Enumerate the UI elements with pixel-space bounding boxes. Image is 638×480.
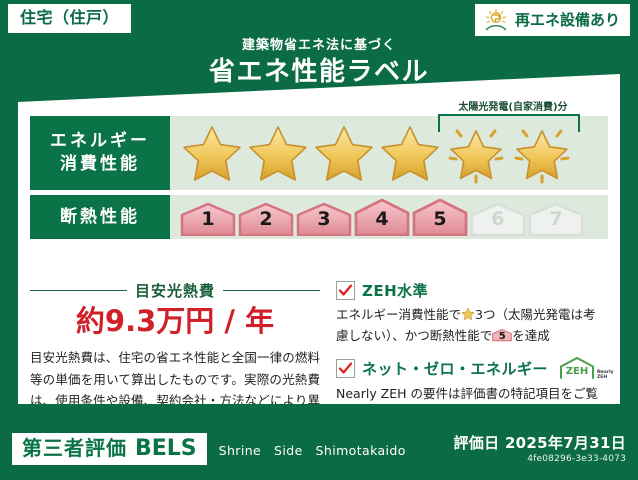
net-zero-energy-title: ネット・ゼロ・エネルギー — [362, 358, 548, 379]
rule-left — [30, 290, 127, 291]
insulation-performance-row: 断熱性能 1 — [30, 195, 608, 239]
bels-word: BELS — [135, 436, 197, 461]
insulation-grade-badge: 4 — [354, 198, 410, 236]
energy-stars-area: 太陽光発電(自家消費)分 — [170, 116, 608, 190]
insulation-grade-number: 5 — [412, 208, 468, 230]
star-icon — [246, 122, 310, 184]
evaluation-info: 評価日 2025年7月31日 4fe08296-3e33-4073 — [454, 434, 627, 464]
insulation-grade-badge: 2 — [238, 202, 294, 236]
svg-text:ZEH: ZEH — [566, 366, 588, 377]
insulation-grade-badge-inactive: 7 — [528, 202, 584, 236]
site-name: Shrine Side Shimotakaido — [219, 440, 406, 459]
bels-badge: 第三者評価 BELS — [12, 433, 207, 465]
details-section: 目安光熱費 約9.3万円 / 年 目安光熱費は、住宅の省エネ性能と全国一律の燃料… — [30, 280, 608, 435]
insulation-label: 断熱性能 — [60, 206, 140, 229]
sun-solar-icon — [483, 8, 509, 32]
energy-performance-label-box: エネルギー 消費性能 — [30, 116, 170, 190]
bels-prefix: 第三者評価 — [22, 436, 127, 460]
utility-cost-heading-text: 目安光熱費 — [135, 280, 215, 301]
utility-cost-heading: 目安光熱費 — [30, 280, 320, 301]
star-icon — [378, 122, 442, 184]
insulation-grade-number: 6 — [470, 208, 526, 230]
net-zero-energy-claim-head: ネット・ゼロ・エネルギー ZEH Nearly ZEH — [336, 356, 600, 380]
insulation-grade-number: 4 — [354, 208, 410, 230]
star-icon — [461, 306, 475, 320]
insulation-grade-number: 7 — [528, 208, 584, 230]
energy-label-line1: エネルギー — [50, 130, 150, 153]
insulation-grade-badge: 5 — [412, 198, 468, 236]
check-icon — [336, 359, 355, 378]
zeh-body-part1: エネルギー消費性能で — [336, 307, 461, 322]
pv-bracket-caption: 太陽光発電(自家消費)分 — [428, 98, 598, 113]
insulation-grades-area: 1 2 — [170, 195, 608, 239]
rule-right — [223, 290, 320, 291]
housing-type-tag: 住宅（住戸） — [8, 4, 131, 33]
evaluation-date-label: 評価日 — [454, 434, 500, 452]
star-icon — [180, 122, 244, 184]
performance-section: エネルギー 消費性能 太陽光発電(自家消費)分 — [30, 116, 608, 244]
claims-column: ZEH水準 エネルギー消費性能で3つ（太陽光発電は考慮しない）、かつ断熱性能で5… — [328, 280, 600, 435]
insulation-grade-number: 1 — [180, 208, 236, 230]
zeh-house-logo: ZEH Nearly ZEH — [558, 356, 614, 380]
renewable-equipment-tag: 再エネ設備あり — [475, 4, 630, 36]
evaluation-id: 4fe08296-3e33-4073 — [454, 454, 627, 464]
label-card: エネルギー 消費性能 太陽光発電(自家消費)分 — [18, 74, 620, 404]
insulation-grade-number: 2 — [238, 208, 294, 230]
evaluation-date: 評価日 2025年7月31日 — [454, 434, 627, 452]
zeh-standard-title: ZEH水準 — [362, 280, 428, 301]
evaluation-date-value: 2025年7月31日 — [505, 434, 626, 452]
energy-performance-label: 住宅（住戸） 再エネ設備あり 建築物省エネ法に基づく 省エネ性 — [0, 0, 638, 480]
insulation-grade-badge: 3 — [296, 202, 352, 236]
zeh-body-part3: を達成 — [512, 328, 550, 343]
zeh-standard-claim: ZEH水準 エネルギー消費性能で3つ（太陽光発電は考慮しない）、かつ断熱性能で5… — [336, 280, 600, 346]
utility-cost-column: 目安光熱費 約9.3万円 / 年 目安光熱費は、住宅の省エネ性能と全国一律の燃料… — [30, 280, 328, 435]
inline-grade-badge: 5 — [492, 327, 512, 343]
zeh-logo-subtext: Nearly ZEH — [597, 370, 614, 380]
zeh-standard-claim-head: ZEH水準 — [336, 280, 600, 301]
energy-performance-row: エネルギー 消費性能 太陽光発電(自家消費)分 — [30, 116, 608, 190]
net-zero-energy-claim: ネット・ゼロ・エネルギー ZEH Nearly ZEH — [336, 356, 600, 425]
renewable-equipment-label: 再エネ設備あり — [515, 12, 620, 29]
pv-bracket — [438, 114, 580, 132]
insulation-grade-badge-inactive: 6 — [470, 202, 526, 236]
insulation-grade-scale: 1 2 — [180, 198, 584, 236]
insulation-grade-number: 3 — [296, 208, 352, 230]
zeh-logo-sub2: ZEH — [597, 375, 607, 380]
footer-band: 第三者評価 BELS Shrine Side Shimotakaido 評価日 … — [0, 418, 638, 480]
energy-label-line2: 消費性能 — [60, 153, 140, 176]
utility-cost-value: 約9.3万円 / 年 — [30, 303, 320, 339]
insulation-grade-badge: 1 — [180, 202, 236, 236]
inline-grade-number: 5 — [492, 329, 512, 346]
check-icon — [336, 281, 355, 300]
zeh-standard-body: エネルギー消費性能で3つ（太陽光発電は考慮しない）、かつ断熱性能で5を達成 — [336, 304, 600, 346]
insulation-performance-label-box: 断熱性能 — [30, 195, 170, 239]
star-icon — [312, 122, 376, 184]
